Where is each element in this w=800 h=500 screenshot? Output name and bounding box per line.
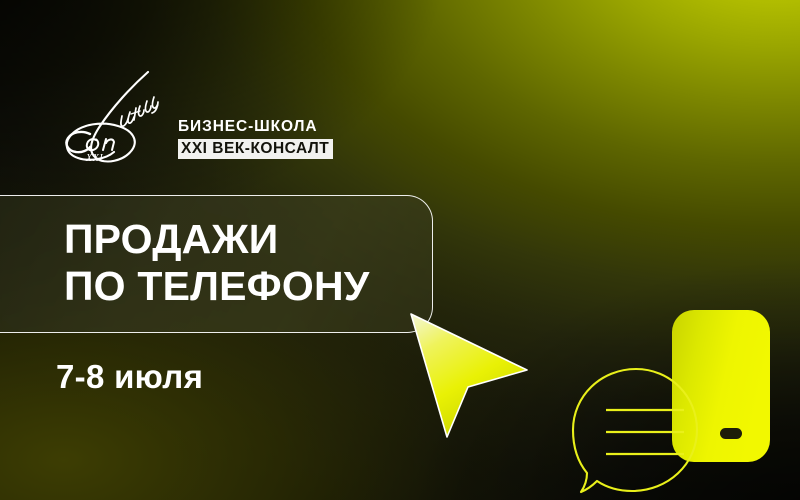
brand-logo-text: БИЗНЕС-ШКОЛА XXI ВЕК-КОНСАЛТ — [178, 118, 310, 159]
consulting-script-logo-icon: XXI — [52, 68, 170, 172]
event-date: 7-8 июля — [56, 358, 203, 396]
brand-logo: XXI БИЗНЕС-ШКОЛА XXI ВЕК-КОНСАЛТ — [52, 68, 262, 172]
page-title: ПРОДАЖИ ПО ТЕЛЕФОНУ — [64, 216, 444, 310]
brand-name-line2: XXI ВЕК-КОНСАЛТ — [178, 139, 333, 159]
brand-name-line1: БИЗНЕС-ШКОЛА — [178, 118, 310, 136]
promo-banner: XXI БИЗНЕС-ШКОЛА XXI ВЕК-КОНСАЛТ ПРОДАЖИ… — [0, 0, 800, 500]
logo-xxi-text: XXI — [85, 153, 103, 164]
